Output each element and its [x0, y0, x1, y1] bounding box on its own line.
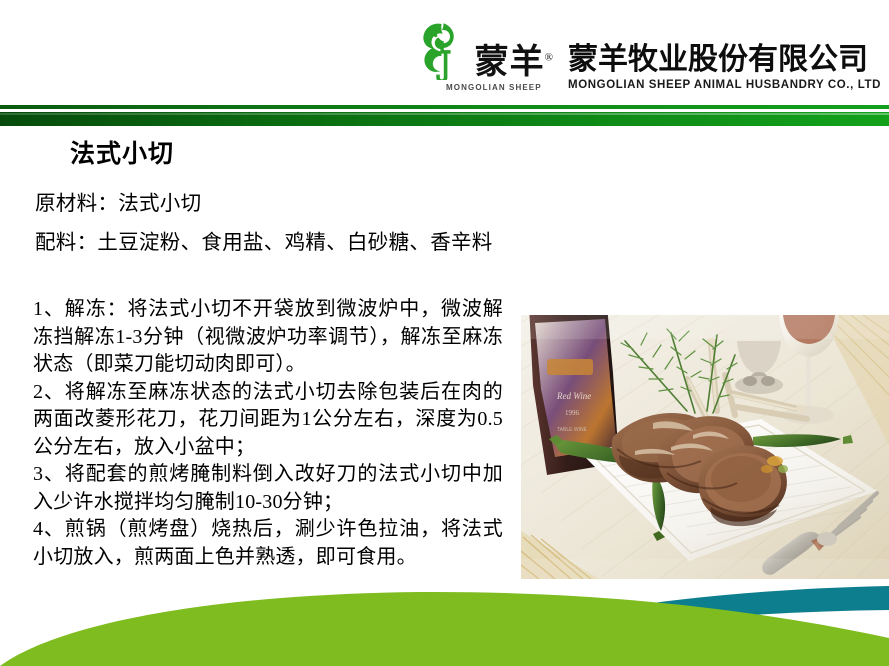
raw-material-line: 原材料：法式小切	[35, 186, 201, 216]
header-divider-highlight	[0, 113, 889, 115]
step-2: 2、将解冻至麻冻状态的法式小切去除包装后在肉的两面改菱形花刀，花刀间距为1公分左…	[33, 379, 503, 462]
company-name-cn: 蒙羊牧业股份有限公司	[568, 44, 881, 76]
preparation-steps: 1、解冻：将法式小切不开袋放到微波炉中，微波解冻挡解冻1-3分钟（视微波炉功率调…	[33, 296, 503, 571]
company-name-en: MONGOLIAN SHEEP ANIMAL HUSBANDRY CO., LT…	[568, 79, 881, 91]
logo-mark-top: 蒙羊®	[412, 22, 554, 80]
step-3: 3、将配套的煎烤腌制料倒入改好刀的法式小切中加入少许水搅拌均匀腌制10-30分钟…	[33, 461, 503, 516]
brand-name-cn: 蒙羊®	[475, 46, 554, 80]
footer-decoration	[0, 566, 889, 666]
brand-name-en: MONGOLIAN SHEEP	[446, 83, 542, 92]
company-name-block: 蒙羊牧业股份有限公司 MONGOLIAN SHEEP ANIMAL HUSBAN…	[568, 44, 881, 93]
registered-trademark-icon: ®	[545, 52, 554, 64]
seasoning-line: 配料：土豆淀粉、食用盐、鸡精、白砂糖、香辛料	[35, 225, 493, 255]
slide-header: 蒙羊® MONGOLIAN SHEEP 蒙羊牧业股份有限公司 MONGOLIAN…	[0, 0, 889, 104]
french-cut-lamb-rack-dish-photo: Red Wine 1996 TABLE WINE	[521, 315, 889, 579]
logo-mark: 蒙羊® MONGOLIAN SHEEP	[412, 22, 554, 92]
step-4: 4、煎锅（煎烤盘）烧热后，涮少许色拉油，将法式小切放入，煎两面上色并熟透，即可食…	[33, 516, 503, 571]
presentation-slide: 蒙羊® MONGOLIAN SHEEP 蒙羊牧业股份有限公司 MONGOLIAN…	[0, 0, 889, 666]
page-title: 法式小切	[70, 134, 174, 170]
svg-text:Red Wine: Red Wine	[556, 391, 591, 401]
brand-logo-block: 蒙羊® MONGOLIAN SHEEP 蒙羊牧业股份有限公司 MONGOLIAN…	[412, 14, 881, 92]
svg-text:TABLE WINE: TABLE WINE	[557, 427, 588, 433]
svg-text:1996: 1996	[565, 409, 580, 417]
ram-head-logo-icon	[412, 22, 472, 80]
step-1: 1、解冻：将法式小切不开袋放到微波炉中，微波解冻挡解冻1-3分钟（视微波炉功率调…	[33, 296, 503, 379]
